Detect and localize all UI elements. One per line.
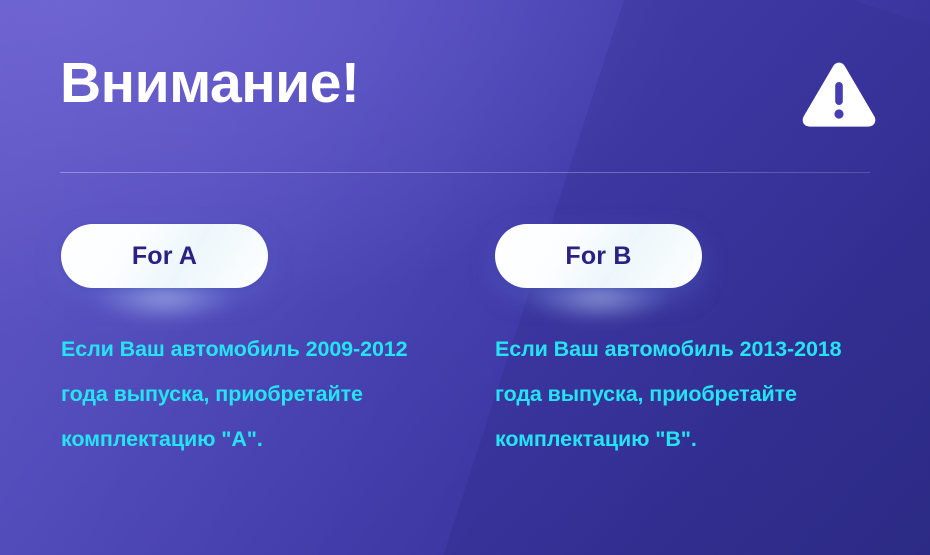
options-columns: For A Если Ваш автомобиль 2009-2012 года… [0,0,930,555]
for-b-button-label: For B [565,244,631,269]
option-b-description: Если Ваш автомобиль 2013-2018 года выпус… [495,327,887,462]
warning-banner: Внимание! For A Если Ваш автомобиль 2009… [0,0,930,555]
for-a-button-label: For A [132,244,197,269]
option-a-button-wrap: For A [61,224,268,288]
for-b-button[interactable]: For B [495,224,702,288]
for-a-button[interactable]: For A [61,224,268,288]
option-a-description: Если Ваш автомобиль 2009-2012 года выпус… [61,327,453,462]
option-b-button-wrap: For B [495,224,702,288]
